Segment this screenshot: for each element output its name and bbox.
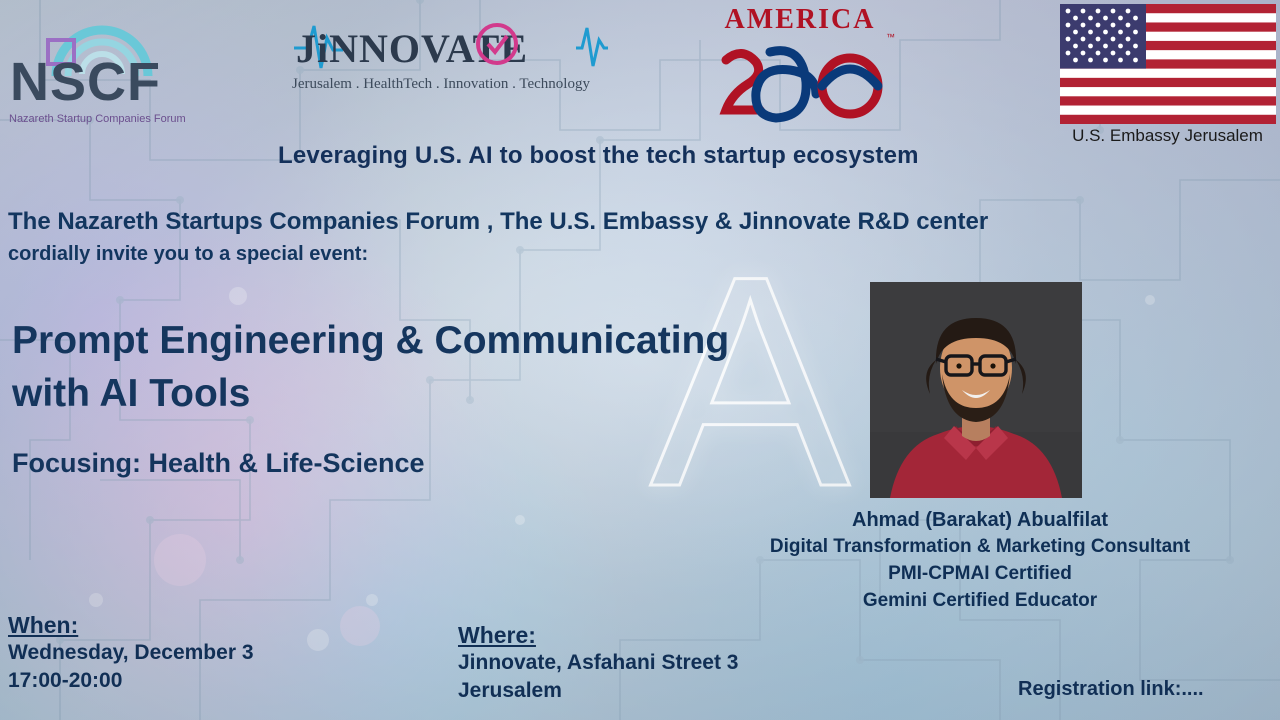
america-250-logo: AMERICA ™ 250: [700, 0, 900, 130]
jinnovate-logo: JiNNOVATE Jerusalem . HealthTech . Innov…: [288, 8, 608, 100]
speaker-credential-1: PMI-CPMAI Certified: [700, 561, 1260, 588]
when-block: When: Wednesday, December 3 17:00-20:00: [8, 612, 428, 696]
where-address: Jinnovate, Asfahani Street 3: [458, 649, 888, 677]
nscf-subtitle: Nazareth Startup Companies Forum: [9, 113, 186, 125]
where-city: Jerusalem: [458, 677, 888, 705]
speaker-name: Ahmad (Barakat) Abualfilat: [700, 506, 1260, 534]
when-time: 17:00-20:00: [8, 667, 428, 695]
us-flag: [1060, 4, 1276, 124]
registration-link-label[interactable]: Registration link:....: [1018, 678, 1204, 701]
speaker-info: Ahmad (Barakat) Abualfilat Digital Trans…: [700, 506, 1260, 615]
event-focus: Focusing: Health & Life-Science: [12, 448, 425, 479]
where-block: Where: Jinnovate, Asfahani Street 3 Jeru…: [458, 622, 888, 706]
event-tagline: Leveraging U.S. AI to boost the tech sta…: [278, 142, 919, 170]
speaker-headshot: [870, 282, 1082, 498]
speaker-credential-2: Gemini Certified Educator: [700, 588, 1260, 615]
when-label: When:: [8, 612, 428, 639]
nscf-acronym: NSCF: [10, 52, 161, 112]
when-date: Wednesday, December 3: [8, 639, 428, 667]
america-trademark: ™: [886, 32, 895, 42]
page-title: Prompt Engineering & Communicating with …: [12, 315, 792, 420]
invitation-organizers: The Nazareth Startups Companies Forum , …: [8, 208, 988, 236]
america-word: AMERICA: [725, 4, 876, 35]
flag-caption: U.S. Embassy Jerusalem: [1055, 126, 1280, 146]
speaker-role: Digital Transformation & Marketing Consu…: [700, 534, 1260, 561]
event-poster: A NSCF Nazareth Startup Companies Forum …: [0, 0, 1280, 720]
jinnovate-tagline: Jerusalem . HealthTech . Innovation . Te…: [292, 76, 590, 92]
where-label: Where:: [458, 622, 888, 649]
nscf-logo: NSCF Nazareth Startup Companies Forum: [4, 4, 194, 134]
invitation-subtext: cordially invite you to a special event:: [8, 243, 368, 266]
